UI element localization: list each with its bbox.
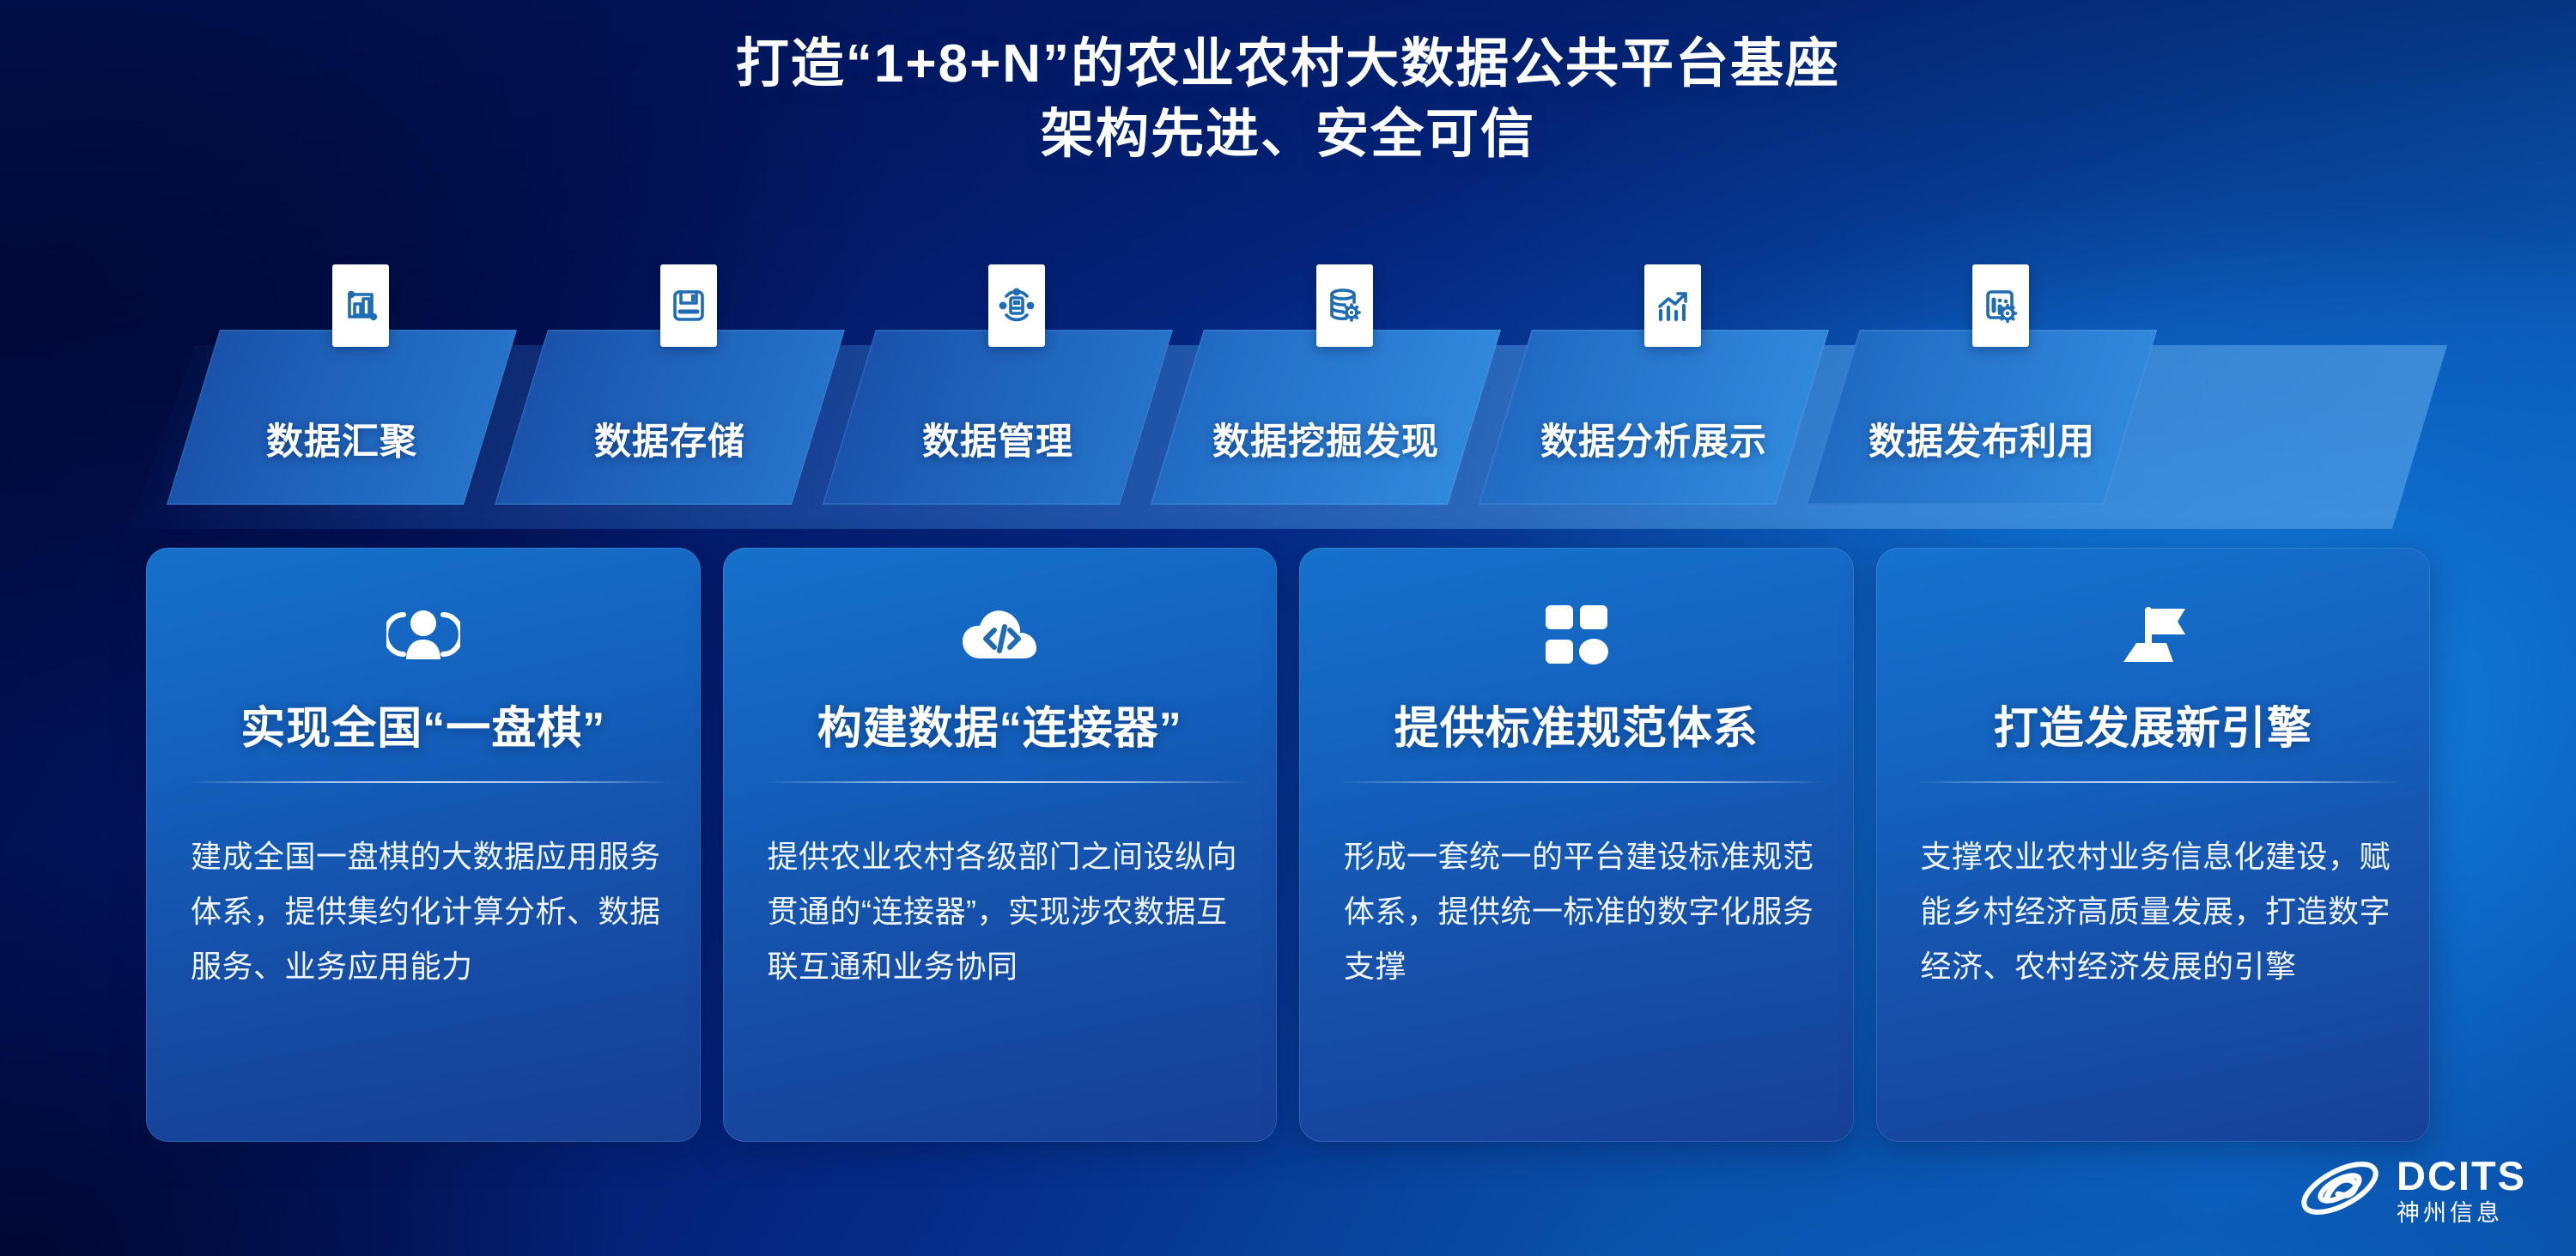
- pipeline-stage-1[interactable]: 数据汇聚: [167, 330, 517, 505]
- feature-card-title: 提供标准规范体系: [1299, 692, 1854, 756]
- brand-logo-en: DCITS: [2397, 1156, 2526, 1196]
- page-title: 打造“1+8+N”的农业农村大数据公共平台基座 架构先进、安全可信: [0, 29, 2576, 170]
- pipeline-stage-shape: [1807, 330, 2157, 505]
- users-group-icon: [146, 599, 701, 673]
- grid-blocks-icon: [1299, 599, 1854, 673]
- data-pipeline-ribbon: 数据汇聚数据存储数据管理数据挖掘发现数据分析展示数据发布利用: [129, 330, 2447, 529]
- feature-card-divider: [764, 781, 1249, 783]
- feature-card-title: 实现全国“一盘棋”: [146, 692, 701, 756]
- pipeline-stage-3[interactable]: 数据管理: [823, 330, 1173, 505]
- pipeline-stage-2[interactable]: 数据存储: [495, 330, 845, 505]
- pipeline-stage-shape: [167, 330, 517, 505]
- database-gear-icon: [1316, 264, 1373, 347]
- page-title-line-2: 架构先进、安全可信: [0, 100, 2576, 170]
- trend-up-chart-icon: [1644, 264, 1701, 347]
- feature-card-3[interactable]: 提供标准规范体系形成一套统一的平台建设标准规范体系，提供统一标准的数字化服务支撑: [1299, 548, 1854, 1142]
- brand-logo-text: DCITS 神州信息: [2397, 1156, 2526, 1225]
- feature-card-4[interactable]: 打造发展新引擎支撑农业农村业务信息化建设，赋能乡村经济高质量发展，打造数字经济、…: [1876, 548, 2431, 1142]
- pipeline-stage-5[interactable]: 数据分析展示: [1479, 330, 1829, 505]
- feature-card-divider: [1917, 781, 2402, 783]
- feature-card-list: 实现全国“一盘棋”建成全国一盘棋的大数据应用服务体系，提供集约化计算分析、数据服…: [146, 548, 2430, 1149]
- feature-card-title: 构建数据“连接器”: [723, 692, 1278, 756]
- feature-card-1[interactable]: 实现全国“一盘棋”建成全国一盘棋的大数据应用服务体系，提供集约化计算分析、数据服…: [146, 548, 701, 1142]
- pipeline-stage-shape: [495, 330, 845, 505]
- feature-card-title: 打造发展新引擎: [1876, 692, 2431, 756]
- feature-card-2[interactable]: 构建数据“连接器”提供农业农村各级部门之间设纵向贯通的“连接器”，实现涉农数据互…: [723, 548, 1278, 1142]
- brand-logo: DCITS 神州信息: [2297, 1154, 2526, 1227]
- report-gear-icon: [1972, 264, 2029, 347]
- pipeline-stage-4[interactable]: 数据挖掘发现: [1151, 330, 1501, 505]
- page-title-line-1: 打造“1+8+N”的农业农村大数据公共平台基座: [0, 29, 2576, 100]
- pipeline-stage-list: 数据汇聚数据存储数据管理数据挖掘发现数据分析展示数据发布利用: [129, 330, 2447, 529]
- pipeline-stage-shape: [1151, 330, 1501, 505]
- brand-logo-cn: 神州信息: [2397, 1202, 2526, 1225]
- feature-card-body: 支撑农业农村业务信息化建设，赋能乡村经济高质量发展，打造数字经济、农村经济发展的…: [1921, 829, 2398, 994]
- feature-card-body: 建成全国一盘棋的大数据应用服务体系，提供集约化计算分析、数据服务、业务应用能力: [191, 829, 668, 994]
- dcits-swirl-icon: [2297, 1154, 2383, 1227]
- floppy-disk-icon: [660, 264, 717, 347]
- bar-chart-nodes-icon: [332, 264, 389, 347]
- pipeline-stage-6[interactable]: 数据发布利用: [1807, 330, 2157, 505]
- feature-card-divider: [1340, 781, 1825, 783]
- feature-card-divider: [187, 781, 671, 783]
- feature-card-body: 形成一套统一的平台建设标准规范体系，提供统一标准的数字化服务支撑: [1344, 829, 1821, 994]
- network-document-icon: [988, 264, 1045, 347]
- pipeline-stage-shape: [823, 330, 1173, 505]
- slide-canvas: 打造“1+8+N”的农业农村大数据公共平台基座 架构先进、安全可信 数据汇聚数据…: [0, 0, 2576, 1256]
- pipeline-stage-shape: [1479, 330, 1829, 505]
- feature-card-body: 提供农业农村各级部门之间设纵向贯通的“连接器”，实现涉农数据互联互通和业务协同: [768, 829, 1245, 994]
- flag-hill-icon: [1876, 599, 2431, 673]
- cloud-code-icon: [723, 599, 1278, 673]
